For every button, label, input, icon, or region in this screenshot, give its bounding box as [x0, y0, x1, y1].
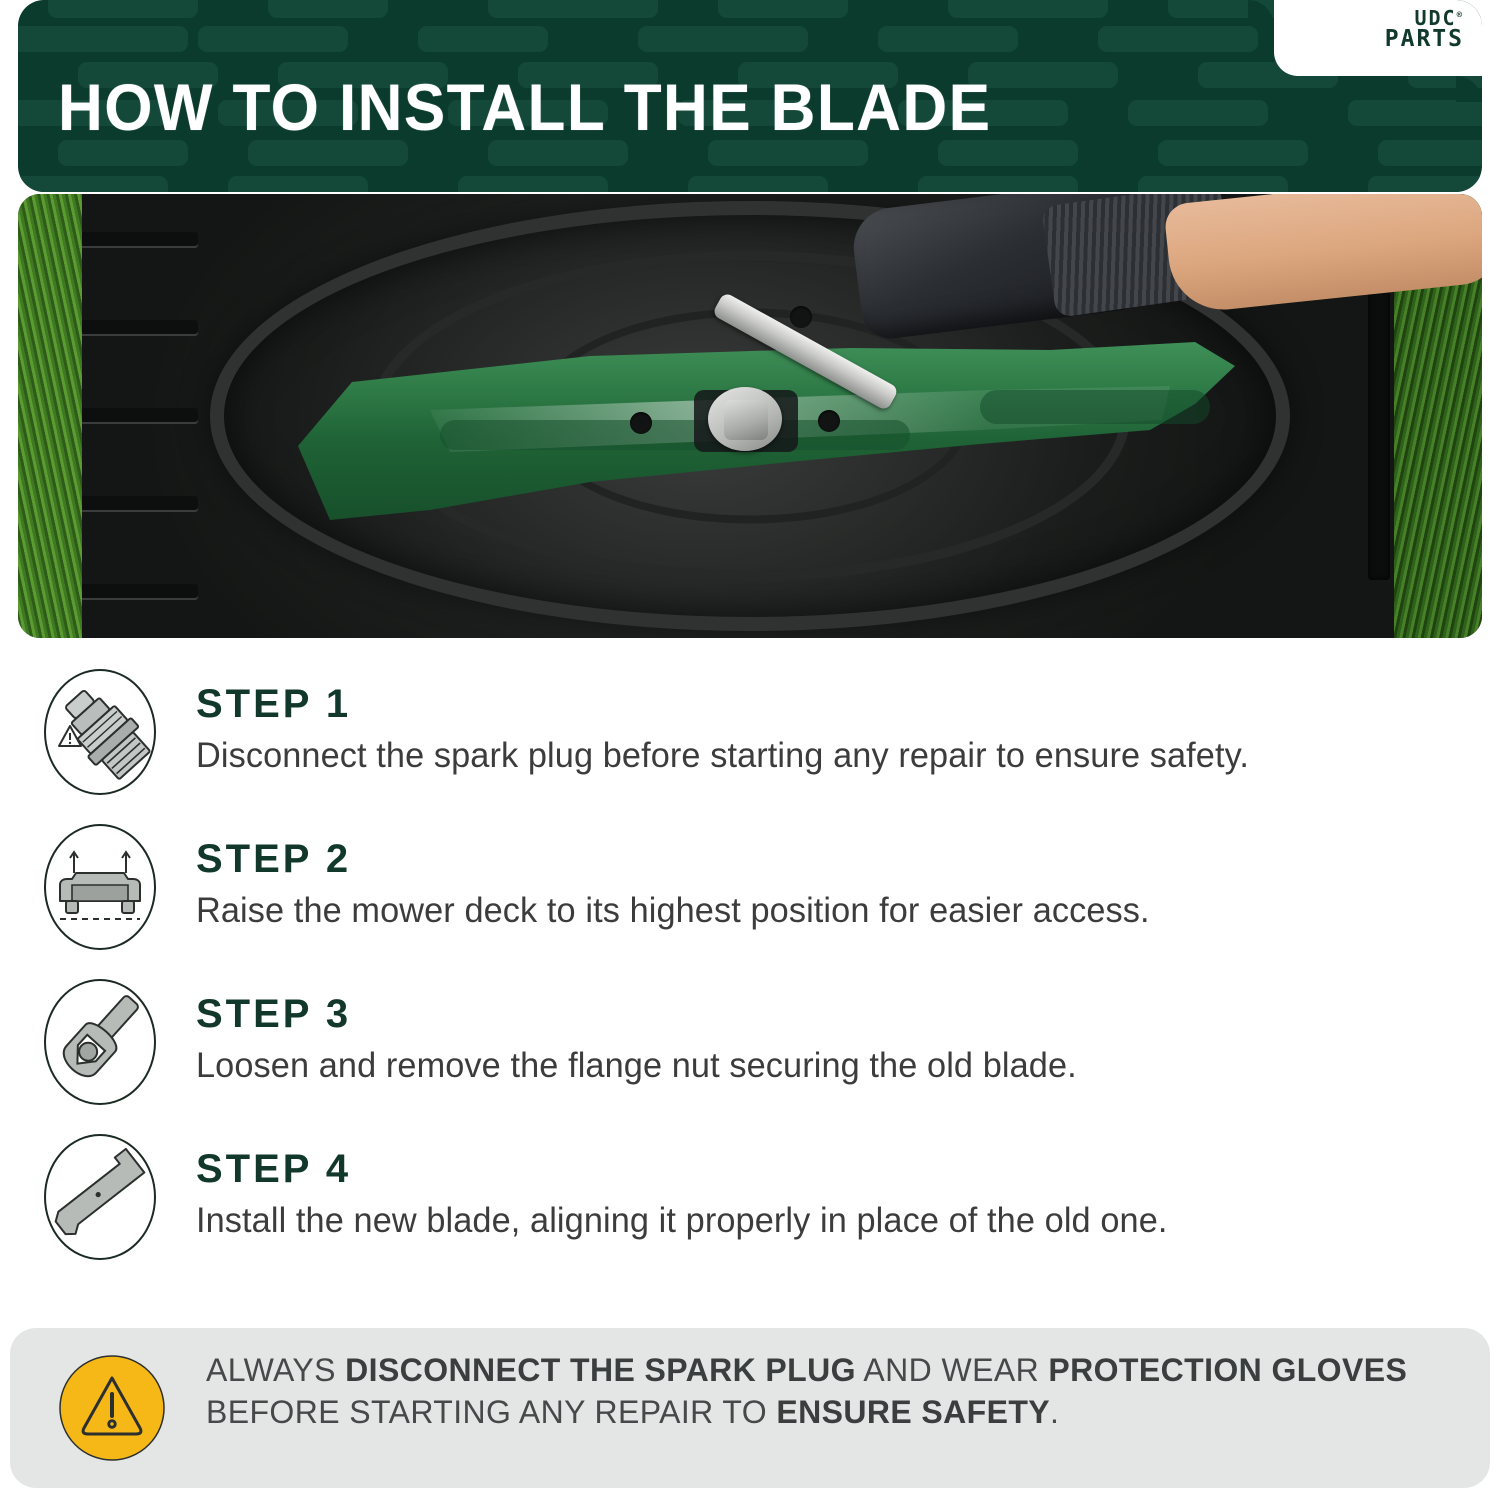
- mower-deck-raise-icon: [36, 823, 164, 951]
- logo-notch: UDC® PARTS: [1274, 0, 1482, 76]
- pattern-brick: [918, 176, 1078, 192]
- pattern-brick: [458, 176, 608, 192]
- deck-vent-slot: [80, 408, 198, 422]
- steps-list: STEP 1 Disconnect the spark plug before …: [0, 660, 1500, 1280]
- step-item: STEP 1 Disconnect the spark plug before …: [0, 660, 1500, 815]
- logo-udc-text: UDC: [1414, 6, 1456, 30]
- pattern-brick: [488, 0, 658, 18]
- registered-trademark-icon: ®: [1457, 10, 1464, 20]
- pattern-brick: [1368, 176, 1482, 192]
- pattern-brick: [1128, 100, 1268, 126]
- pattern-brick: [638, 26, 808, 52]
- step-description: Disconnect the spark plug before startin…: [196, 736, 1249, 776]
- warning-text: ALWAYS DISCONNECT THE SPARK PLUG AND WEA…: [206, 1350, 1446, 1433]
- blade-mounting-hole: [630, 412, 652, 434]
- deck-vent-slot: [80, 232, 198, 246]
- hero-photo: [18, 194, 1482, 638]
- step-description: Raise the mower deck to its highest posi…: [196, 891, 1150, 931]
- step-description: Install the new blade, aligning it prope…: [196, 1201, 1168, 1241]
- pattern-brick: [878, 26, 1018, 52]
- pattern-brick: [688, 176, 828, 192]
- spark-plug-icon: [36, 668, 164, 796]
- step-item: STEP 4 Install the new blade, aligning i…: [0, 1125, 1500, 1280]
- pattern-brick: [948, 0, 1108, 18]
- mower-blade-icon: [36, 1133, 164, 1261]
- deck-hole: [790, 306, 812, 328]
- warning-plain: ALWAYS: [206, 1352, 345, 1388]
- wrench-icon: [36, 978, 164, 1106]
- step-item: STEP 2 Raise the mower deck to its highe…: [0, 815, 1500, 970]
- brand-logo: UDC® PARTS: [1385, 8, 1464, 52]
- pattern-brick: [18, 26, 188, 52]
- pattern-brick: [1138, 176, 1288, 192]
- grass-left: [18, 194, 82, 638]
- warning-plain: .: [1050, 1394, 1059, 1430]
- deck-vent-slot: [80, 496, 198, 510]
- pattern-brick: [48, 0, 198, 18]
- warning-emphasis: ENSURE SAFETY: [776, 1394, 1050, 1430]
- logo-line-udc: UDC®: [1385, 8, 1464, 28]
- logo-line-parts: PARTS: [1385, 28, 1464, 51]
- pattern-brick: [1098, 26, 1258, 52]
- flange-nut: [724, 400, 768, 440]
- deck-side-channel: [1368, 250, 1390, 580]
- safety-warning-banner: ALWAYS DISCONNECT THE SPARK PLUG AND WEA…: [10, 1328, 1490, 1488]
- warning-emphasis: DISCONNECT THE SPARK PLUG: [345, 1352, 856, 1388]
- step-title: STEP 1: [196, 682, 351, 727]
- pattern-brick: [1378, 140, 1482, 166]
- pattern-brick: [268, 0, 388, 18]
- pattern-brick: [18, 176, 168, 192]
- pattern-brick: [228, 176, 368, 192]
- blade-mounting-hole: [818, 410, 840, 432]
- pattern-brick: [718, 0, 848, 18]
- deck-vent-slot: [80, 584, 198, 598]
- warning-plain: BEFORE STARTING ANY REPAIR TO: [206, 1394, 776, 1430]
- pattern-brick: [1158, 140, 1308, 166]
- pattern-brick: [418, 26, 548, 52]
- step-title: STEP 2: [196, 837, 351, 882]
- infographic-page: HOW TO INSTALL THE BLADE UDC® PARTS: [0, 0, 1500, 1500]
- pattern-brick: [1348, 100, 1482, 126]
- header-banner: HOW TO INSTALL THE BLADE UDC® PARTS: [18, 0, 1482, 192]
- step-title: STEP 4: [196, 1147, 351, 1192]
- step-title: STEP 3: [196, 992, 351, 1037]
- warning-triangle-icon: [58, 1354, 166, 1462]
- step-item: STEP 3 Loosen and remove the flange nut …: [0, 970, 1500, 1125]
- warning-emphasis: PROTECTION GLOVES: [1048, 1352, 1407, 1388]
- deck-vent-slot: [80, 320, 198, 334]
- warning-plain: AND WEAR: [856, 1352, 1048, 1388]
- pattern-brick: [198, 26, 348, 52]
- step-description: Loosen and remove the flange nut securin…: [196, 1046, 1077, 1086]
- page-title: HOW TO INSTALL THE BLADE: [58, 74, 991, 140]
